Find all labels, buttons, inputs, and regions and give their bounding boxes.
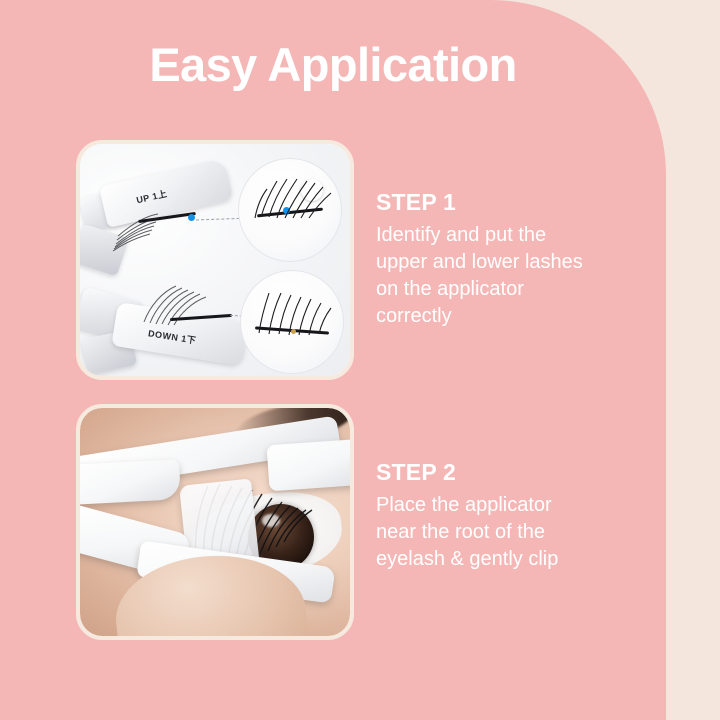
step-1-illustration: UP 1上 DOWN 1下 xyxy=(80,144,350,376)
step-1-body-line: upper and lower lashes xyxy=(376,249,644,276)
infographic-root: Easy Application UP 1上 xyxy=(0,0,720,720)
lower-lash-hairs xyxy=(136,282,214,326)
step-1-body-line: correctly xyxy=(376,303,644,330)
upper-lash-marker-dot xyxy=(188,214,195,221)
step-2-label: STEP 2 xyxy=(376,460,644,485)
step-2-body-line: eyelash & gently clip xyxy=(376,546,644,573)
step-2-body-line: near the root of the xyxy=(376,519,644,546)
step-1-body-line: on the applicator xyxy=(376,276,644,303)
step-1-body: Identify and put the upper and lower las… xyxy=(376,222,644,329)
zoom-2-lash-hairs xyxy=(249,281,339,337)
step-1-text-block: STEP 1 Identify and put the upper and lo… xyxy=(376,190,644,329)
step-2-body-line: Place the applicator xyxy=(376,492,644,519)
step-2-image-card xyxy=(76,404,354,640)
step-2-text-block: STEP 2 Place the applicator near the roo… xyxy=(376,460,644,573)
zoom-1-lash-hairs xyxy=(247,163,339,221)
step-2-illustration xyxy=(80,408,350,636)
applicator-right-arm xyxy=(267,439,350,492)
step-1-image-card: UP 1上 DOWN 1下 xyxy=(76,140,354,380)
upper-lash-hairs xyxy=(102,202,162,254)
step-1-body-line: Identify and put the xyxy=(376,222,644,249)
applicator-upper-bracket xyxy=(80,459,181,505)
step-1-label: STEP 1 xyxy=(376,190,644,215)
zoom-callout-lower xyxy=(240,270,344,374)
step-2-body: Place the applicator near the root of th… xyxy=(376,492,644,572)
page-title: Easy Application xyxy=(0,40,666,89)
zoom-callout-upper xyxy=(238,158,342,262)
